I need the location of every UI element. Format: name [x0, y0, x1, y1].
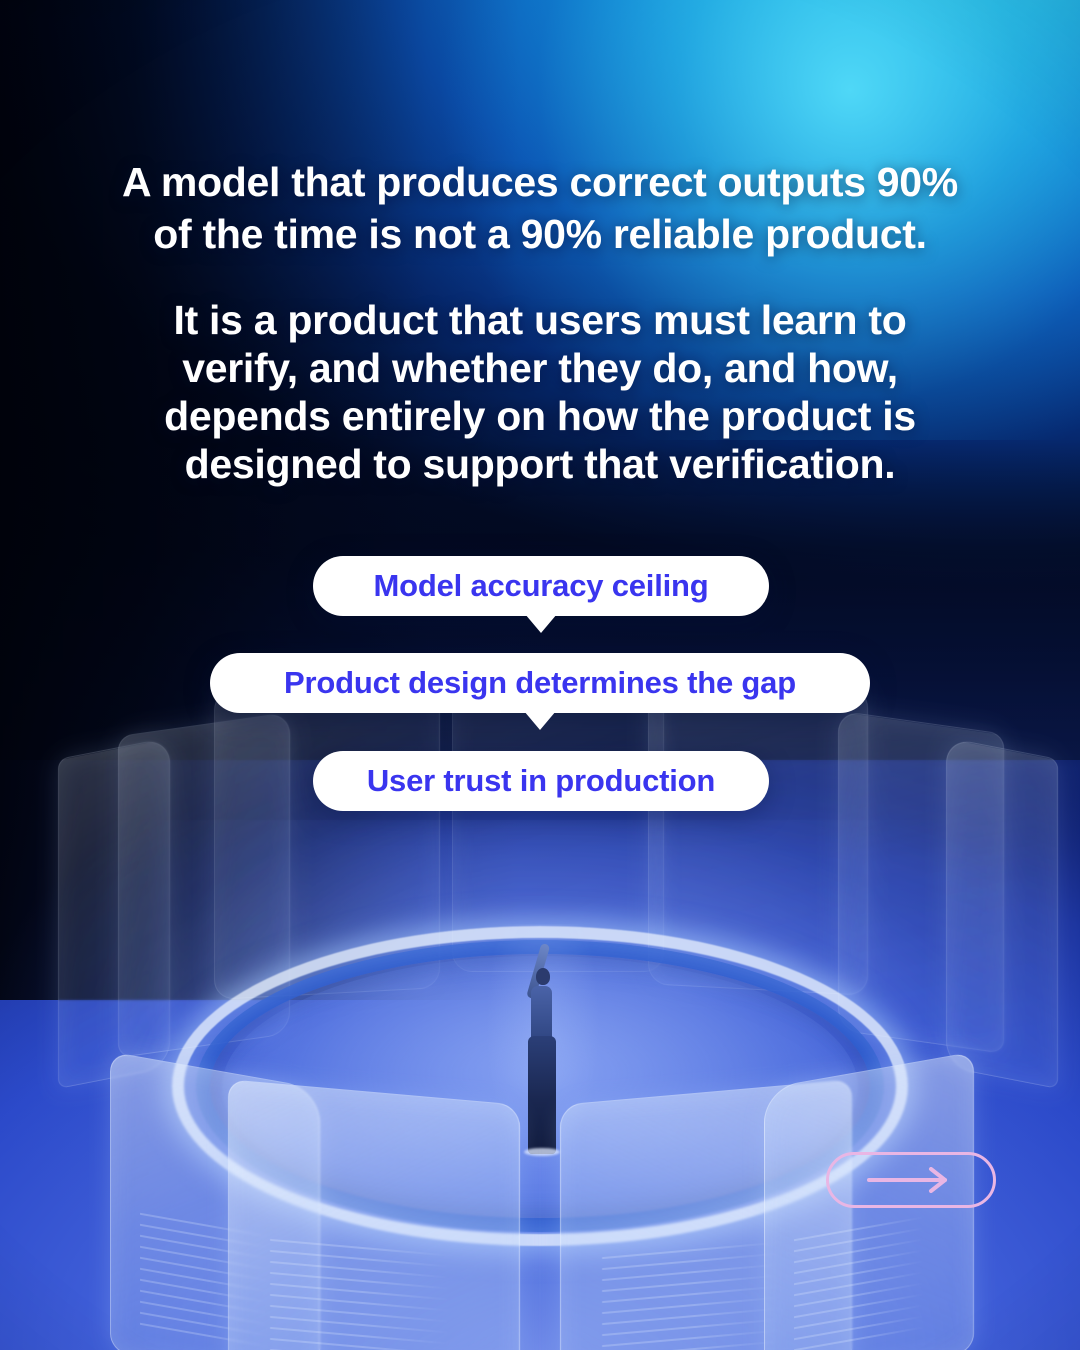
arrow-right-icon — [865, 1167, 957, 1193]
callout-pill-model-accuracy-ceiling[interactable]: Model accuracy ceiling — [313, 556, 769, 616]
callout-pill-label: User trust in production — [367, 763, 715, 799]
callout-pill-user-trust-in-production[interactable]: User trust in production — [313, 751, 769, 811]
callout-pill-group: Model accuracy ceiling Product design de… — [0, 0, 1080, 1350]
callout-pill-tail — [524, 711, 556, 730]
poster-canvas: A model that produces correct outputs 90… — [0, 0, 1080, 1350]
callout-pill-label: Product design determines the gap — [284, 665, 796, 701]
next-slide-button[interactable] — [826, 1152, 996, 1208]
callout-pill-tail — [525, 614, 557, 633]
callout-pill-label: Model accuracy ceiling — [373, 568, 708, 604]
callout-pill-product-design-determines-the-gap[interactable]: Product design determines the gap — [210, 653, 870, 713]
